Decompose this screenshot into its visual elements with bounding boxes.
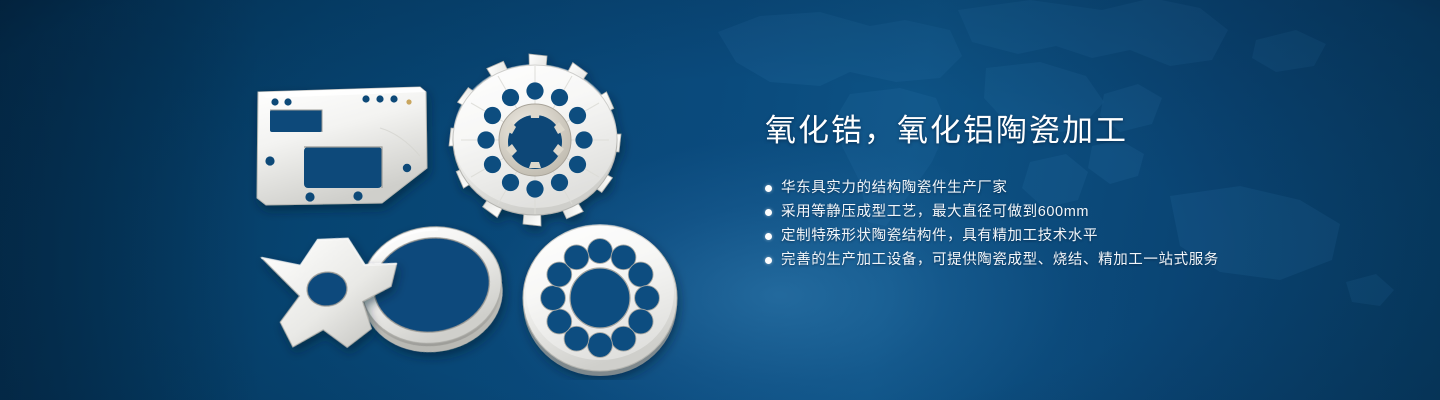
bullet-dot-icon [765,233,772,240]
product-ceramic-impeller [449,54,621,226]
list-item: 采用等静压成型工艺，最大直径可做到600mm [765,200,1385,224]
product-ceramic-hole-disc [523,224,677,376]
list-item: 完善的生产加工设备，可提供陶瓷成型、烧结、精加工一站式服务 [765,248,1385,272]
page-title: 氧化锆，氧化铝陶瓷加工 [765,112,1385,150]
list-item-label: 定制特殊形状陶瓷结构件，具有精加工技术水平 [781,224,1098,248]
bullet-dot-icon [765,257,772,264]
list-item-label: 华东具实力的结构陶瓷件生产厂家 [781,176,1008,200]
product-photo-cluster [230,40,710,380]
hero-copy: 氧化锆，氧化铝陶瓷加工 华东具实力的结构陶瓷件生产厂家 采用等静压成型工艺，最大… [765,112,1385,272]
list-item: 华东具实力的结构陶瓷件生产厂家 [765,176,1385,200]
list-item: 定制特殊形状陶瓷结构件，具有精加工技术水平 [765,224,1385,248]
list-item-label: 采用等静压成型工艺，最大直径可做到600mm [781,200,1089,224]
bullet-dot-icon [765,209,772,216]
feature-list: 华东具实力的结构陶瓷件生产厂家 采用等静压成型工艺，最大直径可做到600mm 定… [765,176,1385,272]
bullet-dot-icon [765,185,772,192]
product-ceramic-plate [257,87,427,205]
hero-banner: 氧化锆，氧化铝陶瓷加工 华东具实力的结构陶瓷件生产厂家 采用等静压成型工艺，最大… [0,0,1440,400]
list-item-label: 完善的生产加工设备，可提供陶瓷成型、烧结、精加工一站式服务 [781,248,1219,272]
